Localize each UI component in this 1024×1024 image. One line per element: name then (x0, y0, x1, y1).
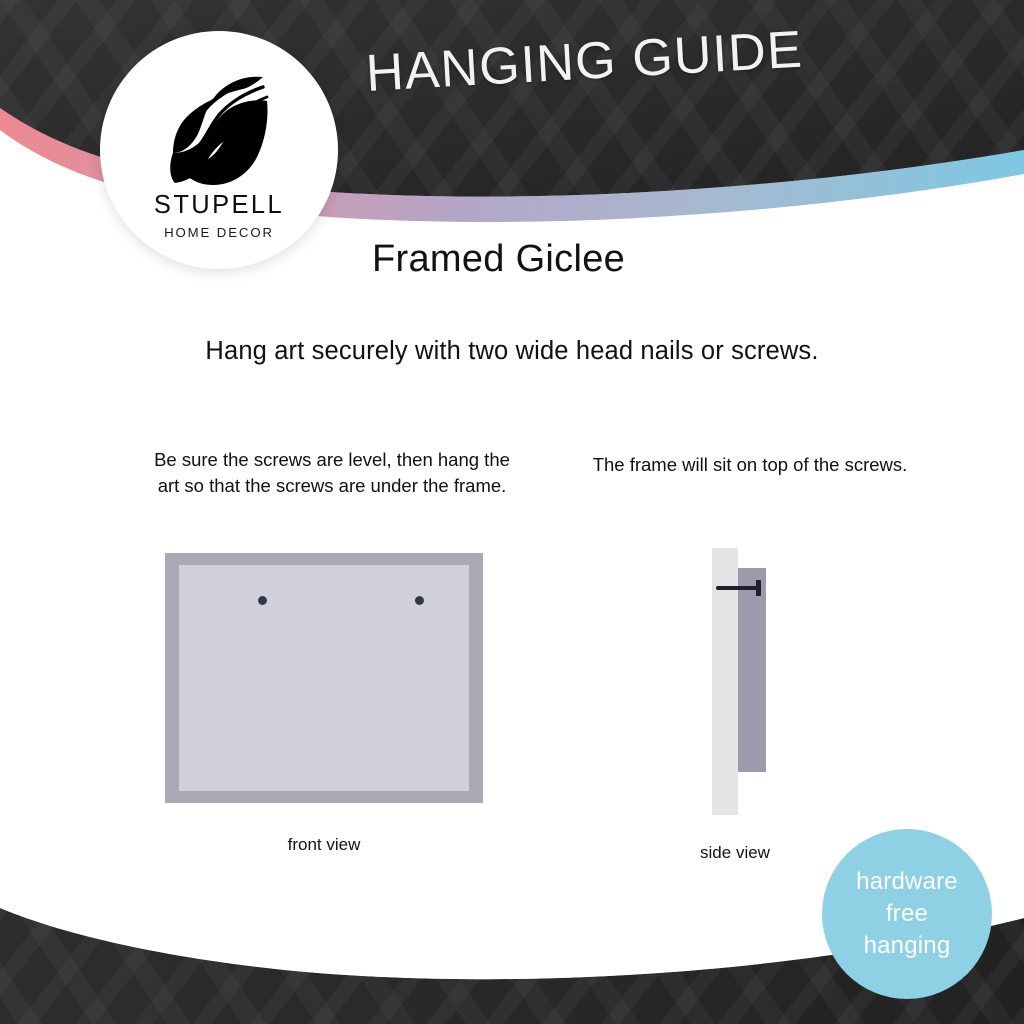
header-title-container: HANGING GUIDE (366, 44, 886, 124)
brand-badge: STUPELL HOME DECOR (100, 31, 338, 269)
side-view-diagram (712, 548, 802, 818)
front-view-mat (179, 565, 469, 791)
frame-side-strip (738, 568, 766, 772)
promo-badge: hardware free hanging (822, 829, 992, 999)
promo-badge-text: hardware free hanging (856, 866, 958, 962)
brand-tagline: HOME DECOR (164, 226, 274, 239)
front-view-label: front view (165, 835, 483, 855)
promo-line-1: hardware (856, 866, 958, 898)
nail-head-icon (756, 580, 761, 596)
page-title: HANGING GUIDE (364, 15, 887, 104)
front-view-diagram (165, 553, 483, 803)
stupell-swoosh-icon (167, 65, 271, 187)
side-view-caption: The frame will sit on top of the screws. (580, 452, 920, 478)
promo-line-3: hanging (856, 930, 958, 962)
lead-instruction: Hang art securely with two wide head nai… (0, 337, 1024, 366)
front-view-caption: Be sure the screws are level, then hang … (152, 447, 512, 499)
nail-icon (716, 586, 758, 590)
side-view-label: side view (640, 843, 830, 863)
product-type-heading: Framed Giclee (372, 238, 625, 281)
screw-dot-icon (258, 596, 267, 605)
promo-line-2: free (856, 898, 958, 930)
screw-dot-icon (415, 596, 424, 605)
hanging-guide-page: STUPELL HOME DECOR HANGING GUIDE Framed … (0, 0, 1024, 1024)
brand-name: STUPELL (154, 193, 284, 219)
